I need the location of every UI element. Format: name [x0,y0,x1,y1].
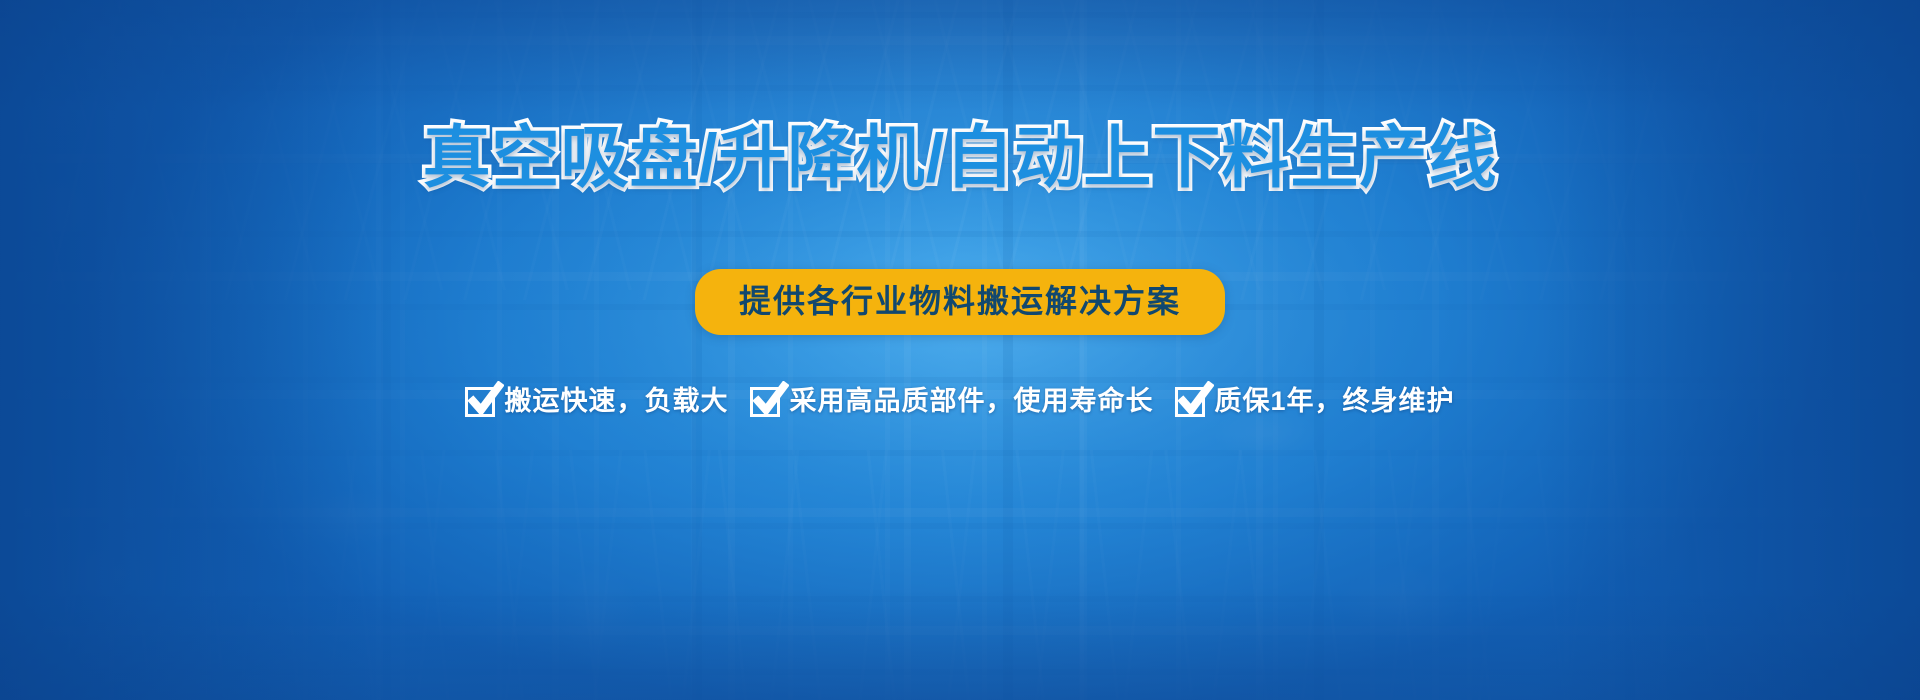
feature-label: 采用高品质部件，使用寿命长 [789,388,1153,415]
check-icon [1175,387,1205,417]
feature-label: 质保1年，终身维护 [1214,388,1454,415]
banner-subtitle-pill: 提供各行业物料搬运解决方案 [695,269,1225,335]
check-icon [750,387,780,417]
feature-label: 搬运快速，负载大 [504,388,728,415]
promo-banner: 真空吸盘/升降机/自动上下料生产线 提供各行业物料搬运解决方案 搬运快速，负载大… [0,0,1920,700]
banner-content: 真空吸盘/升降机/自动上下料生产线 提供各行业物料搬运解决方案 搬运快速，负载大… [0,0,1920,700]
feature-item: 搬运快速，负载大 [465,387,728,417]
feature-list: 搬运快速，负载大 采用高品质部件，使用寿命长 质保1年，终身维护 [465,387,1454,417]
feature-item: 采用高品质部件，使用寿命长 [750,387,1153,417]
banner-headline: 真空吸盘/升降机/自动上下料生产线 [423,122,1498,195]
feature-item: 质保1年，终身维护 [1175,387,1454,417]
check-icon [465,387,495,417]
